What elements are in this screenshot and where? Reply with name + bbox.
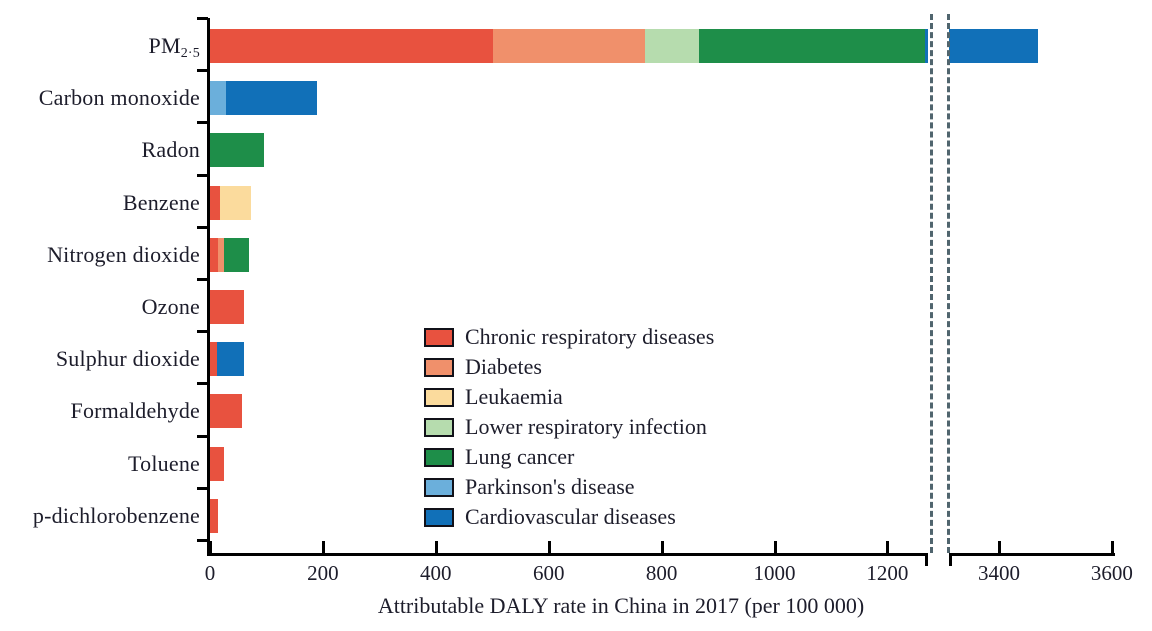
legend-item[interactable]: Cardiovascular diseases bbox=[424, 502, 714, 532]
y-axis-tick bbox=[197, 539, 208, 542]
legend-swatch bbox=[424, 418, 454, 437]
bar-row bbox=[0, 238, 1152, 272]
bar-segment bbox=[210, 447, 224, 481]
y-axis-tick bbox=[197, 330, 208, 333]
y-axis-tick bbox=[197, 278, 208, 281]
bar-segment bbox=[226, 81, 317, 115]
x-axis-tick-label: 0 bbox=[150, 563, 270, 584]
bar-segment bbox=[949, 29, 1038, 63]
legend-swatch bbox=[424, 388, 454, 407]
bar-row bbox=[0, 29, 1152, 63]
y-axis-tick bbox=[197, 69, 208, 72]
bar-segment bbox=[210, 81, 226, 115]
bar-segment bbox=[210, 133, 264, 167]
axis-break-dashed-line bbox=[947, 14, 950, 553]
bar-segment bbox=[210, 238, 218, 272]
y-axis-tick bbox=[197, 174, 208, 177]
legend-swatch bbox=[424, 448, 454, 467]
x-axis-tick-label: 200 bbox=[263, 563, 383, 584]
legend-label: Cardiovascular diseases bbox=[465, 506, 676, 528]
y-axis-tick bbox=[197, 17, 208, 20]
x-axis-tick bbox=[435, 541, 438, 554]
x-axis-tick-label: 3600 bbox=[1052, 563, 1152, 584]
legend-label: Lung cancer bbox=[465, 446, 574, 468]
legend-label: Lower respiratory infection bbox=[465, 416, 707, 438]
legend-label: Chronic respiratory diseases bbox=[465, 326, 714, 348]
bar-segment bbox=[217, 342, 244, 376]
legend-label: Leukaemia bbox=[465, 386, 563, 408]
y-axis-tick bbox=[197, 382, 208, 385]
legend-swatch bbox=[424, 328, 454, 347]
x-axis-tick bbox=[548, 541, 551, 554]
bar-chart: PM2·5Carbon monoxideRadonBenzeneNitrogen… bbox=[0, 0, 1152, 631]
bar-segment bbox=[210, 290, 244, 324]
bar-row bbox=[0, 290, 1152, 324]
x-axis-tick bbox=[661, 541, 664, 554]
x-axis-title: Attributable DALY rate in China in 2017 … bbox=[0, 595, 1152, 617]
legend-swatch bbox=[424, 478, 454, 497]
bar-row bbox=[0, 186, 1152, 220]
legend-swatch bbox=[424, 358, 454, 377]
legend-item[interactable]: Parkinson's disease bbox=[424, 472, 714, 502]
bar-segment bbox=[493, 29, 645, 63]
legend-swatch bbox=[424, 508, 454, 527]
x-axis-spine bbox=[949, 553, 1115, 556]
x-axis-tick bbox=[998, 541, 1001, 554]
bar-segment bbox=[645, 29, 699, 63]
y-axis-tick bbox=[197, 226, 208, 229]
bar-segment bbox=[210, 342, 217, 376]
x-axis-tick-label: 3400 bbox=[939, 563, 1059, 584]
bar-segment bbox=[210, 499, 218, 533]
bar-segment bbox=[210, 394, 242, 428]
y-axis-tick bbox=[197, 435, 208, 438]
legend-item[interactable]: Lower respiratory infection bbox=[424, 412, 714, 442]
x-axis-tick bbox=[322, 541, 325, 554]
legend-item[interactable]: Diabetes bbox=[424, 352, 714, 382]
x-axis-spine bbox=[207, 553, 928, 556]
bar-segment bbox=[224, 238, 249, 272]
legend-label: Parkinson's disease bbox=[465, 476, 635, 498]
bar-segment bbox=[220, 186, 252, 220]
legend-item[interactable]: Chronic respiratory diseases bbox=[424, 322, 714, 352]
bar-segment bbox=[925, 29, 928, 63]
y-axis-tick bbox=[197, 121, 208, 124]
bar-segment bbox=[210, 29, 493, 63]
x-axis-tick bbox=[209, 541, 212, 554]
legend-item[interactable]: Leukaemia bbox=[424, 382, 714, 412]
bar-segment bbox=[210, 186, 220, 220]
x-axis-tick bbox=[886, 541, 889, 554]
x-axis-tick-label: 1000 bbox=[715, 563, 835, 584]
bar-segment bbox=[699, 29, 924, 63]
x-axis-tick-label: 800 bbox=[602, 563, 722, 584]
y-axis-tick bbox=[197, 487, 208, 490]
x-axis-tick bbox=[774, 541, 777, 554]
bar-row bbox=[0, 81, 1152, 115]
axis-break-dashed-line bbox=[930, 14, 933, 553]
legend: Chronic respiratory diseasesDiabetesLeuk… bbox=[424, 322, 714, 532]
x-axis-tick-label: 600 bbox=[489, 563, 609, 584]
bar-row bbox=[0, 133, 1152, 167]
x-axis-tick-label: 400 bbox=[376, 563, 496, 584]
legend-item[interactable]: Lung cancer bbox=[424, 442, 714, 472]
legend-label: Diabetes bbox=[465, 356, 542, 378]
x-axis-tick-label: 1200 bbox=[827, 563, 947, 584]
x-axis-tick bbox=[1111, 541, 1114, 554]
